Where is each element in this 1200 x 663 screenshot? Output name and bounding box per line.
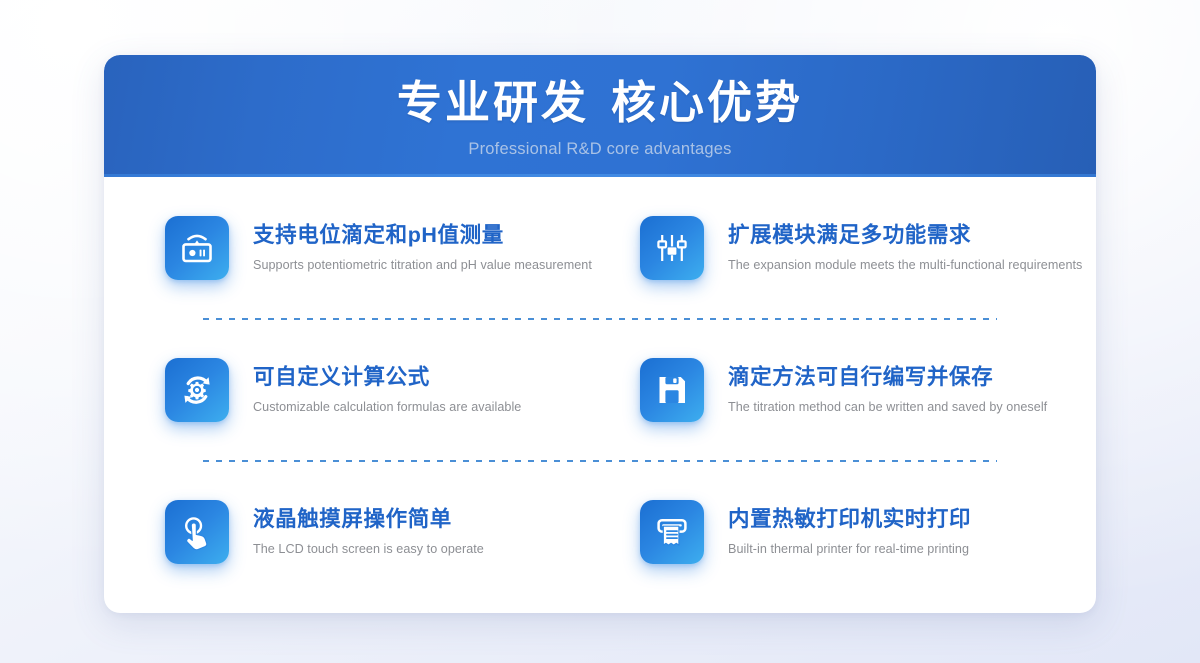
feature-item-5[interactable]: 内置热敏打印机实时打印 Built-in thermal printer for… bbox=[592, 461, 1096, 603]
feature-desc-5: Built-in thermal printer for real-time p… bbox=[728, 542, 971, 558]
features-grid: 支持电位滴定和pH值测量 Supports potentiometric tit… bbox=[104, 177, 1096, 603]
feature-item-4[interactable]: 液晶触摸屏操作简单 The LCD touch screen is easy t… bbox=[104, 461, 592, 603]
feature-item-3[interactable]: 滴定方法可自行编写并保存 The titration method can be… bbox=[592, 319, 1096, 461]
touch-hand-icon bbox=[165, 500, 229, 564]
page-title: 专业研发核心优势 bbox=[104, 55, 1096, 125]
feature-text-4: 液晶触摸屏操作简单 The LCD touch screen is easy t… bbox=[229, 507, 484, 558]
titration-meter-icon bbox=[165, 216, 229, 280]
feature-desc-1: The expansion module meets the multi-fun… bbox=[728, 258, 1082, 274]
feature-row-2: 可自定义计算公式 Customizable calculation formul… bbox=[104, 319, 1096, 461]
advantages-card: 专业研发核心优势 Professional R&D core advantage… bbox=[104, 55, 1096, 613]
thermal-printer-icon bbox=[640, 500, 704, 564]
page-title-part2: 核心优势 bbox=[611, 76, 803, 129]
feature-desc-2: Customizable calculation formulas are av… bbox=[253, 400, 521, 416]
feature-text-3: 滴定方法可自行编写并保存 The titration method can be… bbox=[704, 365, 1047, 416]
feature-item-2[interactable]: 可自定义计算公式 Customizable calculation formul… bbox=[104, 319, 592, 461]
feature-text-1: 扩展模块满足多功能需求 The expansion module meets t… bbox=[704, 223, 1082, 274]
sliders-module-icon bbox=[640, 216, 704, 280]
feature-title-0: 支持电位滴定和pH值测量 bbox=[253, 223, 592, 249]
feature-item-0[interactable]: 支持电位滴定和pH值测量 Supports potentiometric tit… bbox=[104, 177, 592, 319]
page-subtitle: Professional R&D core advantages bbox=[104, 140, 1096, 159]
feature-desc-3: The titration method can be written and … bbox=[728, 400, 1047, 416]
feature-title-5: 内置热敏打印机实时打印 bbox=[728, 507, 971, 533]
card-header-banner: 专业研发核心优势 Professional R&D core advantage… bbox=[104, 55, 1096, 177]
feature-text-5: 内置热敏打印机实时打印 Built-in thermal printer for… bbox=[704, 507, 971, 558]
feature-title-2: 可自定义计算公式 bbox=[253, 365, 521, 391]
feature-title-4: 液晶触摸屏操作简单 bbox=[253, 507, 484, 533]
feature-desc-0: Supports potentiometric titration and pH… bbox=[253, 258, 592, 274]
page-title-part1: 专业研发 bbox=[397, 76, 589, 129]
feature-text-0: 支持电位滴定和pH值测量 Supports potentiometric tit… bbox=[229, 223, 592, 274]
feature-title-3: 滴定方法可自行编写并保存 bbox=[728, 365, 1047, 391]
floppy-save-icon bbox=[640, 358, 704, 422]
feature-item-1[interactable]: 扩展模块满足多功能需求 The expansion module meets t… bbox=[592, 177, 1096, 319]
feature-row-3: 液晶触摸屏操作简单 The LCD touch screen is easy t… bbox=[104, 461, 1096, 603]
feature-desc-4: The LCD touch screen is easy to operate bbox=[253, 542, 484, 558]
feature-row-1: 支持电位滴定和pH值测量 Supports potentiometric tit… bbox=[104, 177, 1096, 319]
feature-title-1: 扩展模块满足多功能需求 bbox=[728, 223, 1082, 249]
feature-text-2: 可自定义计算公式 Customizable calculation formul… bbox=[229, 365, 521, 416]
refresh-gear-icon bbox=[165, 358, 229, 422]
